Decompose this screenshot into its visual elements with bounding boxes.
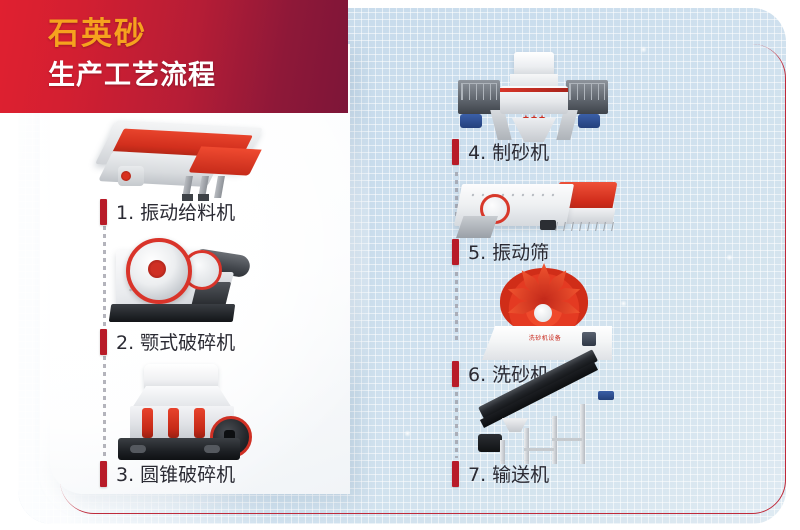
step-label-1[interactable]: 1. 振动给料机 <box>100 198 235 225</box>
step-marker-icon <box>100 461 107 487</box>
machine-belt-conveyor <box>478 390 618 466</box>
screen-block <box>540 220 556 230</box>
step-text: 7. 输送机 <box>468 460 549 487</box>
vsi-motor-left <box>460 114 482 128</box>
conveyor-leg <box>524 428 529 464</box>
step-text: 5. 振动筛 <box>468 238 549 265</box>
connector-dots-right <box>455 272 458 344</box>
step-text: 4. 制砂机 <box>468 138 549 165</box>
conveyor-head-pulley <box>478 434 502 452</box>
banner-title-primary: 石英砂 <box>48 18 147 49</box>
conveyor-crossbar <box>552 438 582 441</box>
screen-rail <box>555 222 615 231</box>
cone-hydraulic-cylinder <box>194 408 205 438</box>
step-marker-icon <box>452 139 459 165</box>
vsi-feed-hopper <box>514 52 554 76</box>
washer-wheel <box>500 268 588 334</box>
connector-dots-left <box>103 348 106 458</box>
step-label-5[interactable]: 5. 振动筛 <box>452 238 549 265</box>
jaw-flywheel <box>126 238 192 304</box>
feeder-discharge-lip <box>188 146 261 175</box>
machine-vibrating-screen <box>444 170 620 244</box>
step-label-4[interactable]: 4. 制砂机 <box>452 138 549 165</box>
washer-logo-text: 洗砂机设备 <box>520 336 570 348</box>
step-label-3[interactable]: 3. 圆锥破碎机 <box>100 460 235 487</box>
vsi-platform-right <box>566 80 608 114</box>
machine-jaw-crusher <box>106 232 256 328</box>
cone-hydraulic-cylinder <box>142 408 153 438</box>
machine-sand-maker: ★★★ <box>452 52 614 144</box>
feeder-motor <box>118 166 144 186</box>
step-marker-icon <box>100 329 107 355</box>
machine-cone-crusher <box>114 362 254 466</box>
vsi-red-band <box>500 88 568 92</box>
step-label-7[interactable]: 7. 输送机 <box>452 460 549 487</box>
vsi-platform-left <box>458 80 500 114</box>
step-marker-icon <box>452 239 459 265</box>
cone-upper-body <box>132 386 232 408</box>
step-marker-icon <box>100 199 107 225</box>
machine-vibrating-feeder <box>98 118 270 198</box>
vsi-leg-left <box>490 110 511 140</box>
cone-hydraulic-cylinder <box>168 408 179 438</box>
conveyor-leg <box>580 404 585 464</box>
cone-base <box>118 438 240 460</box>
flow-diagram-poster: 石英砂 生产工艺流程 1. 振动给料机 <box>0 0 800 530</box>
vsi-motor-right <box>578 114 600 128</box>
step-text: 3. 圆锥破碎机 <box>116 460 235 487</box>
jaw-base <box>109 304 236 322</box>
step-label-2[interactable]: 2. 颚式破碎机 <box>100 328 235 355</box>
banner-title-secondary: 生产工艺流程 <box>48 62 216 89</box>
washer-hub <box>534 304 552 322</box>
feeder-leg <box>214 176 225 198</box>
conveyor-drive-motor <box>598 391 614 400</box>
step-marker-icon <box>452 361 459 387</box>
vsi-leg-right <box>556 110 577 140</box>
machine-sand-washer: 洗砂机设备 <box>482 268 612 360</box>
title-banner: 石英砂 生产工艺流程 <box>0 0 348 113</box>
conveyor-crossbar <box>524 448 554 451</box>
step-marker-icon <box>452 461 459 487</box>
connector-dots-right <box>455 392 458 458</box>
step-text: 2. 颚式破碎机 <box>116 328 235 355</box>
washer-gearbox <box>582 332 596 346</box>
step-text: 1. 振动给料机 <box>116 198 235 225</box>
